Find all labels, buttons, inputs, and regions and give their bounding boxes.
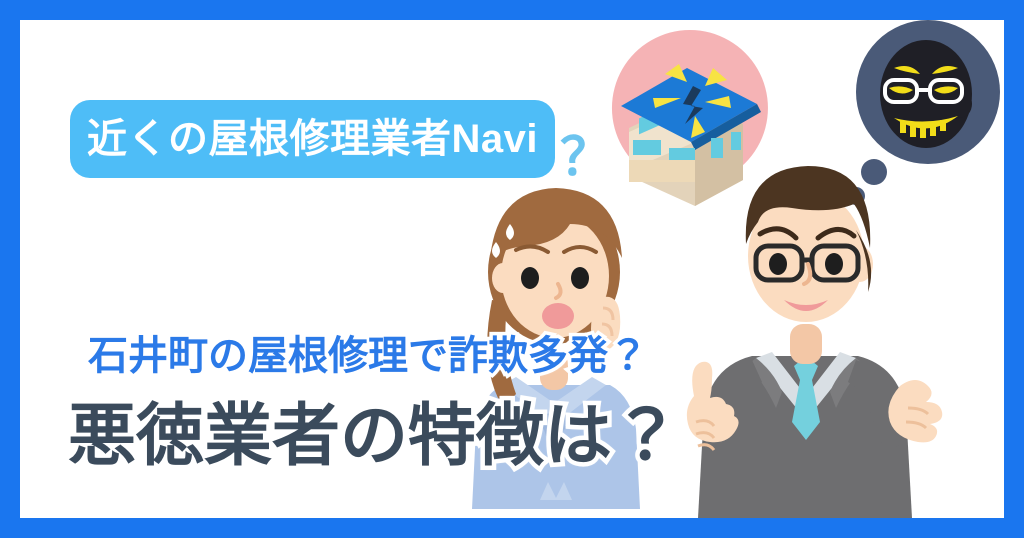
- page-title: 悪徳業者の特徴は？: [68, 380, 680, 479]
- subtitle-text: 石井町の屋根修理で詐欺多発？: [88, 323, 648, 381]
- site-name-badge-label: 近くの屋根修理業者Navi: [87, 119, 538, 159]
- explaining-man-illustration: [660, 160, 950, 518]
- banner-frame: 近くの屋根修理業者Navi ？ 石井町の屋根修理で詐欺多発？ 悪徳業者の特徴は？: [0, 0, 1024, 538]
- decorative-question-mark-icon: ？: [560, 132, 612, 184]
- site-name-badge[interactable]: 近くの屋根修理業者Navi: [70, 100, 555, 178]
- banner-canvas: 近くの屋根修理業者Navi ？ 石井町の屋根修理で詐欺多発？ 悪徳業者の特徴は？: [20, 20, 1004, 518]
